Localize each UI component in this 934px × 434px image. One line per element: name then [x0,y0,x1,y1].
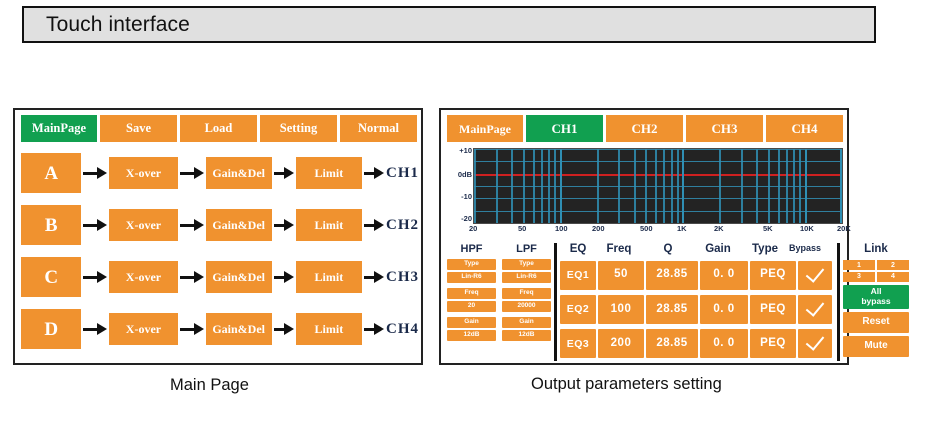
flow-arrow-icon [272,270,296,284]
flow-arrow-icon [362,322,386,336]
chart-gridline [597,149,599,223]
eq-response-chart[interactable]: +10 0dB -10 -20 20501002005001K2K5K10K20… [447,146,843,242]
parameter-table: HPF LPF Type Lin-R6 Freq 20 [447,243,843,361]
chart-gridline [719,149,721,223]
output-channel-label: CH2 [386,217,419,234]
hpf-freq-label: Freq [447,288,496,299]
mute-button[interactable]: Mute [843,336,909,357]
x-tick-label: 100 [555,224,568,233]
nav-button-save[interactable]: Save [100,115,177,142]
stage-button-xover[interactable]: X-over [109,209,177,241]
chart-y-axis: +10 0dB -10 -20 [447,146,473,224]
chart-gridline [768,149,770,223]
link-button-1[interactable]: 1 [843,260,875,270]
nav-button-normal[interactable]: Normal [340,115,417,142]
all-bypass-button[interactable]: All bypass [843,285,909,309]
eq-table-header: EQ Freq Q Gain Type Bypass [560,243,834,258]
chart-gridline [741,149,743,223]
eq-type-value[interactable]: PEQ [750,261,796,290]
stage-button-limit[interactable]: Limit [296,261,362,293]
eq-type-value[interactable]: PEQ [750,295,796,324]
x-tick-label: 10K [800,224,814,233]
table-row: EQ2 100 28.85 0. 0 PEQ [560,292,834,326]
stage-button-xover[interactable]: X-over [109,313,177,345]
main-page-panel: MainPage Save Load Setting Normal A X-ov… [13,108,423,365]
output-channel-label: CH1 [386,165,419,182]
eq-bypass-toggle[interactable] [798,261,832,290]
link-button-3[interactable]: 3 [843,272,875,282]
eq-q-value[interactable]: 28.85 [646,329,698,358]
signal-flow-row: D X-over Gain&Del Limit CH4 [21,309,419,349]
eq-gain-value[interactable]: 0. 0 [700,329,748,358]
y-tick-label: +10 [459,146,472,155]
eq-q-value[interactable]: 28.85 [646,295,698,324]
hpf-column: Type Lin-R6 Freq 20 Gain 12dB [447,259,496,361]
y-tick-label: -20 [461,214,472,223]
lpf-gain-label: Gain [502,317,551,328]
x-tick-label: 5K [763,224,773,233]
chart-gridline [554,149,556,223]
eq-freq-value[interactable]: 100 [598,295,644,324]
eq-band-label[interactable]: EQ3 [560,329,596,358]
stage-button-xover[interactable]: X-over [109,261,177,293]
hpf-gain-value[interactable]: 12dB [447,330,496,341]
input-source-button[interactable]: D [21,309,81,349]
vertical-divider [554,243,557,361]
chart-gridline [560,149,562,223]
chart-gridline [618,149,620,223]
stage-button-gaindelay[interactable]: Gain&Del [206,261,272,293]
hpf-header: HPF [447,243,496,257]
eq-bypass-toggle[interactable] [798,329,832,358]
chart-gridline [677,149,679,223]
lpf-column: Type Lin-R6 Freq 20000 Gain 12dB [502,259,551,361]
filter-headers: HPF LPF [447,243,551,257]
tab-ch2[interactable]: CH2 [606,115,683,142]
x-tick-label: 20 [469,224,477,233]
flow-arrow-icon [81,270,109,284]
input-source-button[interactable]: A [21,153,81,193]
x-tick-label: 20K [837,224,851,233]
lpf-freq-value[interactable]: 20000 [502,301,551,312]
output-channel-label: CH4 [386,321,419,338]
chart-gridline [786,149,788,223]
bypass-col-header: Bypass [788,243,822,258]
x-tick-label: 200 [592,224,605,233]
flow-arrow-icon [81,322,109,336]
y-tick-label: 0dB [458,170,472,179]
screenshot-root: Touch interface MainPage Save Load Setti… [0,0,934,434]
stage-button-gaindelay[interactable]: Gain&Del [206,209,272,241]
link-section: Link 1 2 3 4 All bypass Reset Mute [843,243,909,361]
input-source-button[interactable]: B [21,205,81,245]
stage-button-limit[interactable]: Limit [296,157,362,189]
chart-gridline [541,149,543,223]
link-number-grid: 1 2 3 4 [843,258,909,282]
link-header: Link [843,243,909,258]
x-tick-label: 50 [518,224,526,233]
chart-gridline [474,149,476,223]
lpf-type-value[interactable]: Lin-R6 [502,272,551,283]
check-icon [798,329,832,358]
chart-gridline [496,149,498,223]
output-channel-label: CH3 [386,269,419,286]
eq-gain-value[interactable]: 0. 0 [700,261,748,290]
stage-button-gaindelay[interactable]: Gain&Del [206,157,272,189]
link-button-2[interactable]: 2 [877,260,909,270]
hpf-freq-value[interactable]: 20 [447,301,496,312]
stage-button-limit[interactable]: Limit [296,313,362,345]
chart-gridline [523,149,525,223]
flow-arrow-icon [178,322,206,336]
link-button-4[interactable]: 4 [877,272,909,282]
flow-arrow-icon [362,270,386,284]
eq-band-label[interactable]: EQ2 [560,295,596,324]
freq-col-header: Freq [596,243,642,258]
tab-ch4[interactable]: CH4 [766,115,843,142]
hpf-type-value[interactable]: Lin-R6 [447,272,496,283]
lpf-header: LPF [502,243,551,257]
x-tick-label: 500 [640,224,653,233]
check-icon [798,295,832,324]
eq-bypass-toggle[interactable] [798,295,832,324]
x-tick-label: 2K [714,224,724,233]
signal-flow-row: B X-over Gain&Del Limit CH2 [21,205,419,245]
x-tick-label: 1K [677,224,687,233]
flow-arrow-icon [178,166,206,180]
hpf-gain-label: Gain [447,317,496,328]
nav-button-setting[interactable]: Setting [260,115,337,142]
eq-freq-value[interactable]: 200 [598,329,644,358]
type-col-header: Type [742,243,788,258]
flow-arrow-icon [81,218,109,232]
eq-col-header: EQ [560,243,596,258]
flow-arrow-icon [272,218,296,232]
table-row: EQ1 50 28.85 0. 0 PEQ [560,258,834,292]
tab-ch3[interactable]: CH3 [686,115,763,142]
y-tick-label: -10 [461,192,472,201]
eq-gain-value[interactable]: 0. 0 [700,295,748,324]
right-panel-caption: Output parameters setting [531,375,722,394]
hpf-type-label: Type [447,259,496,270]
nav-button-mainpage[interactable]: MainPage [21,115,97,142]
chart-gridline [645,149,647,223]
nav-button-load[interactable]: Load [180,115,257,142]
output-parameters-panel: MainPage CH1 CH2 CH3 CH4 +10 0dB -10 -20… [439,108,849,365]
flow-arrow-icon [178,270,206,284]
stage-button-xover[interactable]: X-over [109,157,177,189]
eq-freq-value[interactable]: 50 [598,261,644,290]
chart-plot-area [473,148,843,224]
filter-section: HPF LPF Type Lin-R6 Freq 20 [447,243,551,361]
input-source-button[interactable]: C [21,257,81,297]
stage-button-gaindelay[interactable]: Gain&Del [206,313,272,345]
gain-col-header: Gain [694,243,742,258]
chart-gridline [671,149,673,223]
left-panel-caption: Main Page [170,376,249,395]
check-icon [798,261,832,290]
vertical-divider [837,243,840,361]
tab-ch1[interactable]: CH1 [526,115,603,142]
eq-q-value[interactable]: 28.85 [646,261,698,290]
lpf-type-label: Type [502,259,551,270]
flow-arrow-icon [362,218,386,232]
eq-type-value[interactable]: PEQ [750,329,796,358]
chart-gridline [634,149,636,223]
chart-x-axis: 20501002005001K2K5K10K20K [469,224,847,238]
chart-gridline [778,149,780,223]
chart-gridline [663,149,665,223]
channel-nav: MainPage CH1 CH2 CH3 CH4 [447,115,843,142]
lpf-gain-value[interactable]: 12dB [502,330,551,341]
all-bypass-line2: bypass [861,297,890,306]
lpf-freq-label: Freq [502,288,551,299]
main-page-nav: MainPage Save Load Setting Normal [21,115,417,142]
signal-flow-row: C X-over Gain&Del Limit CH3 [21,257,419,297]
chart-gridline [533,149,535,223]
chart-gridline [840,149,842,223]
eq-band-label[interactable]: EQ1 [560,261,596,290]
flow-arrow-icon [81,166,109,180]
flow-arrow-icon [178,218,206,232]
chart-gridline [756,149,758,223]
nav-button-mainpage[interactable]: MainPage [447,115,523,142]
stage-button-limit[interactable]: Limit [296,209,362,241]
eq-table: EQ Freq Q Gain Type Bypass EQ1 50 28.85 … [560,243,834,361]
chart-gridline [548,149,550,223]
chart-gridline [511,149,513,223]
flow-arrow-icon [272,166,296,180]
chart-gridline [793,149,795,223]
chart-gridline [682,149,684,223]
flow-arrow-icon [362,166,386,180]
page-title-bar: Touch interface [22,6,876,43]
page-title: Touch interface [24,13,190,37]
chart-gridline [842,149,843,223]
chart-gridline [655,149,657,223]
table-row: EQ3 200 28.85 0. 0 PEQ [560,327,834,361]
signal-flow-row: A X-over Gain&Del Limit CH1 [21,153,419,193]
chart-gridline [805,149,807,223]
flow-arrow-icon [272,322,296,336]
q-col-header: Q [642,243,694,258]
chart-gridline [799,149,801,223]
reset-button[interactable]: Reset [843,312,909,333]
